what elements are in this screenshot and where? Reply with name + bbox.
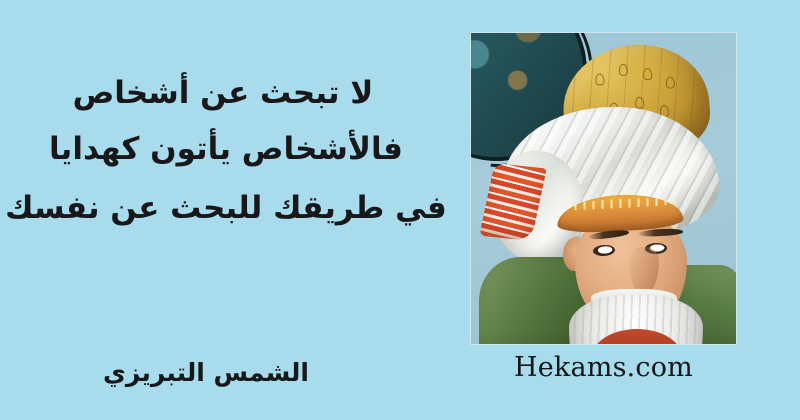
quote-attribution: الشمس التبريزي [0,358,452,387]
portrait-canvas [471,33,736,344]
quote-line-2: فالأشخاص يأتون كهدايا [0,134,452,165]
quote-line-1: لا تبحث عن أشخاص [0,78,452,109]
cap-paisley-motif [665,76,675,89]
cap-paisley-motif [618,64,628,77]
quote-card: لا تبحث عن أشخاص فالأشخاص يأتون كهدايا ف… [0,0,800,420]
cap-paisley-motif [643,68,653,81]
portrait-image [470,32,737,345]
quote-block: لا تبحث عن أشخاص فالأشخاص يأتون كهدايا ف… [0,78,452,224]
quote-line-3: في طريقك للبحث عن نفسك [0,193,452,224]
site-watermark: Hekams.com [470,352,737,383]
